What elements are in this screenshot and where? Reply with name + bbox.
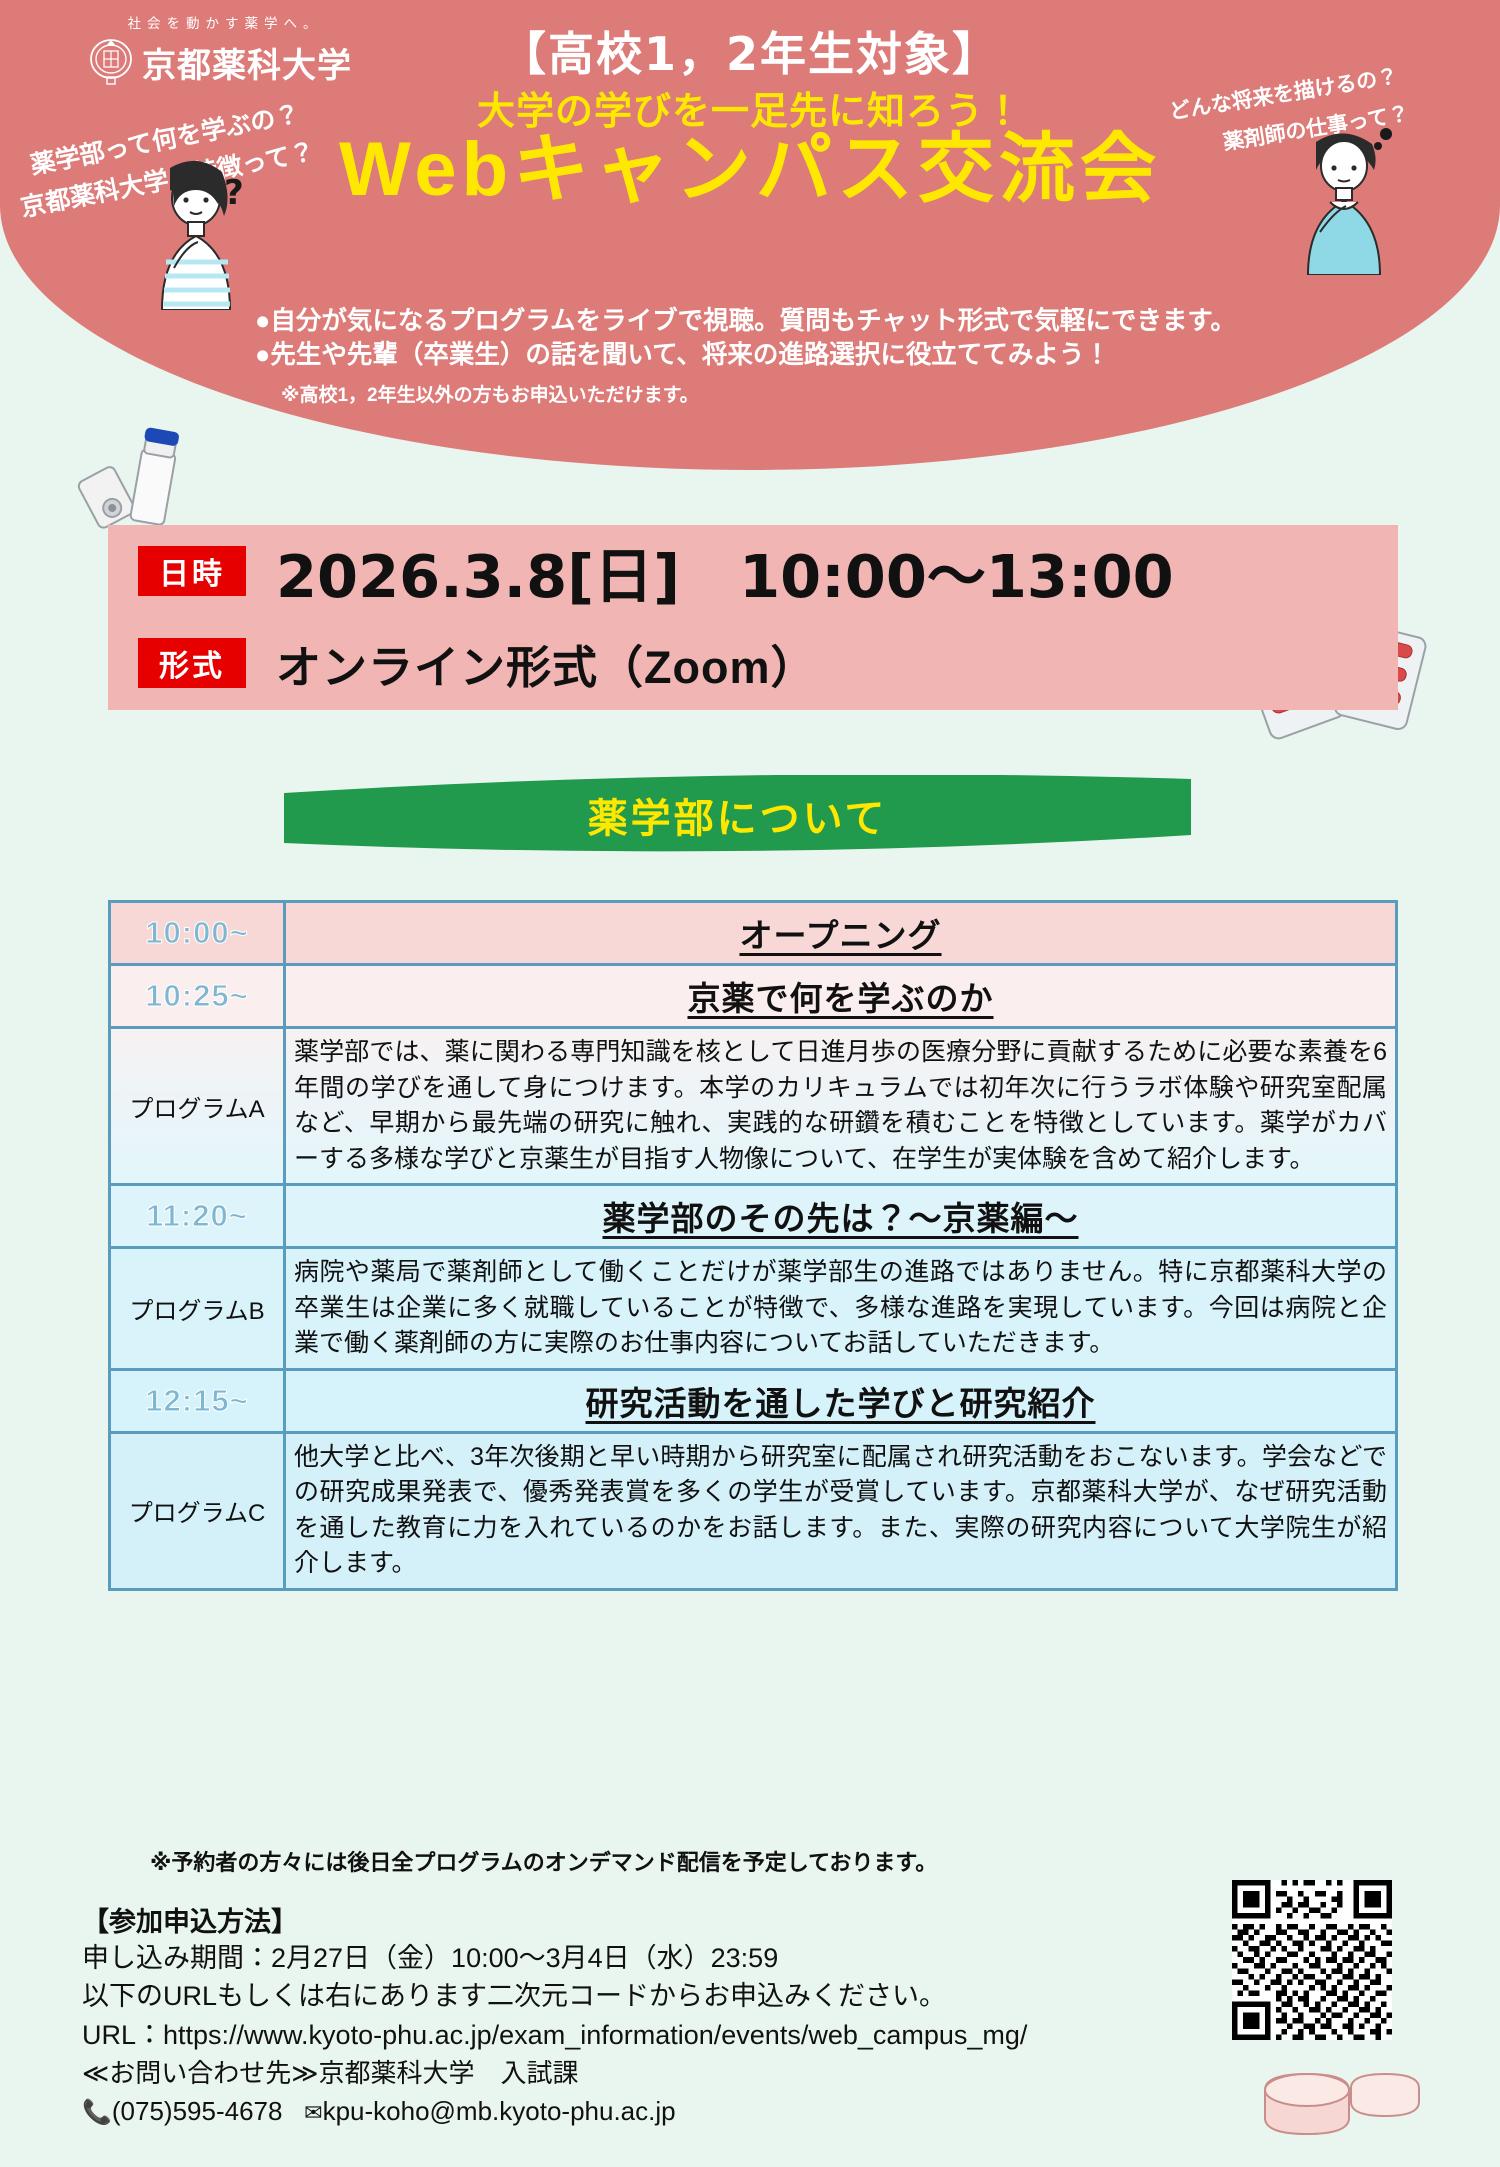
- program-cell: プログラムC: [110, 1432, 285, 1589]
- program-cell: プログラムB: [110, 1248, 285, 1370]
- session-title: 研究活動を通した学びと研究紹介: [586, 1385, 1096, 1422]
- table-row: 10:25~ 京薬で何を学ぶのか: [110, 965, 1397, 1028]
- table-row: 11:20~ 薬学部のその先は？〜京薬編〜: [110, 1185, 1397, 1248]
- bullet-item: ●先生や先輩（卒業生）の話を聞いて、将来の進路選択に役立ててみよう！: [255, 339, 1435, 373]
- program-label: プログラムC: [129, 1500, 266, 1527]
- target-audience-label: 【高校1，2年生対象】: [0, 18, 1500, 84]
- program-description: 他大学と比べ、3年次後期と早い時期から研究室に配属され研究活動をおこないます。学…: [285, 1432, 1397, 1589]
- time-cell: 10:25~: [110, 965, 285, 1028]
- contact-tel: (075)595-4678: [112, 2096, 283, 2126]
- table-row: 10:00~ オープニング: [110, 902, 1397, 965]
- application-block: 【参加申込方法】 申し込み期間：2月27日（金）10:00〜3月4日（水）23:…: [82, 1900, 1282, 2054]
- student-illustration-right: [1290, 120, 1400, 275]
- time-cell: 11:20~: [110, 1185, 285, 1248]
- schedule-table: 10:00~ オープニング 10:25~ 京薬で何を学ぶのか プログラムA 薬学…: [108, 900, 1398, 1591]
- format-value: オンライン形式（Zoom）: [276, 631, 816, 696]
- format-row: 形式 オンライン形式（Zoom）: [108, 617, 1398, 709]
- time-cell: 10:00~: [110, 902, 285, 965]
- application-url[interactable]: URL：https://www.kyoto-phu.ac.jp/exam_inf…: [82, 2016, 1282, 2054]
- bullet-footnote: ※高校1，2年生以外の方もお申込いただけます。: [281, 380, 1435, 407]
- mail-icon: ✉: [304, 2100, 322, 2125]
- ribbon-label: 薬学部について: [280, 775, 1195, 855]
- session-title: オープニング: [739, 917, 941, 954]
- contact-details: 📞(075)595-4678 ✉kpu-koho@mb.kyoto-phu.ac…: [82, 2093, 1282, 2131]
- date-value: 2026.3.8[日] 10:00〜13:00: [276, 529, 1174, 614]
- application-instruction: 以下のURLもしくは右にあります二次元コードからお申込みください。: [82, 1977, 1282, 2015]
- feature-bullets: ●自分が気になるプログラムをライブで視聴。質問もチャット形式で気軽にできます。 …: [255, 305, 1435, 407]
- time-label: 10:25~: [145, 978, 248, 1013]
- program-label: プログラムB: [129, 1298, 264, 1325]
- program-description: 病院や薬局で薬剤師として働くことだけが薬学部生の進路ではありません。特に京都薬科…: [285, 1248, 1397, 1370]
- contact-heading: ≪お問い合わせ先≫京都薬科大学 入試課: [82, 2055, 1282, 2093]
- student-illustration-left: ?: [140, 150, 255, 310]
- program-description: 薬学部では、薬に関わる専門知識を核として日進月歩の医療分野に貢献するために必要な…: [285, 1028, 1397, 1185]
- date-tag: 日時: [138, 546, 246, 596]
- qr-code[interactable]: [1232, 1880, 1392, 2040]
- time-label: 10:00~: [145, 915, 248, 950]
- format-tag: 形式: [138, 638, 246, 688]
- schedule-footnote: ※予約者の方々には後日全プログラムのオンデマンド配信を予定しております。: [150, 1845, 937, 1877]
- session-title-cell: 京薬で何を学ぶのか: [285, 965, 1397, 1028]
- session-title: 薬学部のその先は？〜京薬編〜: [603, 1200, 1079, 1237]
- phone-icon: 📞: [82, 2099, 112, 2126]
- event-info-panel: 日時 2026.3.8[日] 10:00〜13:00 形式 オンライン形式（Zo…: [108, 525, 1398, 710]
- session-title-cell: オープニング: [285, 902, 1397, 965]
- contact-block: ≪お問い合わせ先≫京都薬科大学 入試課 📞(075)595-4678 ✉kpu-…: [82, 2055, 1282, 2130]
- application-period: 申し込み期間：2月27日（金）10:00〜3月4日（水）23:59: [82, 1939, 1282, 1977]
- table-row: プログラムC 他大学と比べ、3年次後期と早い時期から研究室に配属され研究活動をお…: [110, 1432, 1397, 1589]
- program-cell: プログラムA: [110, 1028, 285, 1185]
- session-title-cell: 研究活動を通した学びと研究紹介: [285, 1369, 1397, 1432]
- svg-text:?: ?: [224, 173, 244, 213]
- section-ribbon: 薬学部について: [280, 775, 1195, 855]
- date-row: 日時 2026.3.8[日] 10:00〜13:00: [108, 525, 1398, 617]
- time-label: 12:15~: [145, 1383, 248, 1418]
- table-row: プログラムB 病院や薬局で薬剤師として働くことだけが薬学部生の進路ではありません…: [110, 1248, 1397, 1370]
- table-row: プログラムA 薬学部では、薬に関わる専門知識を核として日進月歩の医療分野に貢献す…: [110, 1028, 1397, 1185]
- session-title-cell: 薬学部のその先は？〜京薬編〜: [285, 1185, 1397, 1248]
- vial-illustration: [52, 425, 212, 530]
- time-cell: 12:15~: [110, 1369, 285, 1432]
- time-label: 11:20~: [146, 1198, 248, 1233]
- table-row: 12:15~ 研究活動を通した学びと研究紹介: [110, 1369, 1397, 1432]
- program-label: プログラムA: [129, 1096, 264, 1123]
- contact-email[interactable]: kpu-koho@mb.kyoto-phu.ac.jp: [323, 2096, 676, 2126]
- header-banner: 社会を動かす薬学へ。 京都薬科大学 薬学部って何を学ぶの？ 京都薬科大学の特徴っ…: [0, 0, 1500, 470]
- session-title: 京薬で何を学ぶのか: [688, 980, 994, 1017]
- application-heading: 【参加申込方法】: [82, 1900, 1282, 1939]
- bullet-item: ●自分が気になるプログラムをライブで視聴。質問もチャット形式で気軽にできます。: [255, 305, 1435, 339]
